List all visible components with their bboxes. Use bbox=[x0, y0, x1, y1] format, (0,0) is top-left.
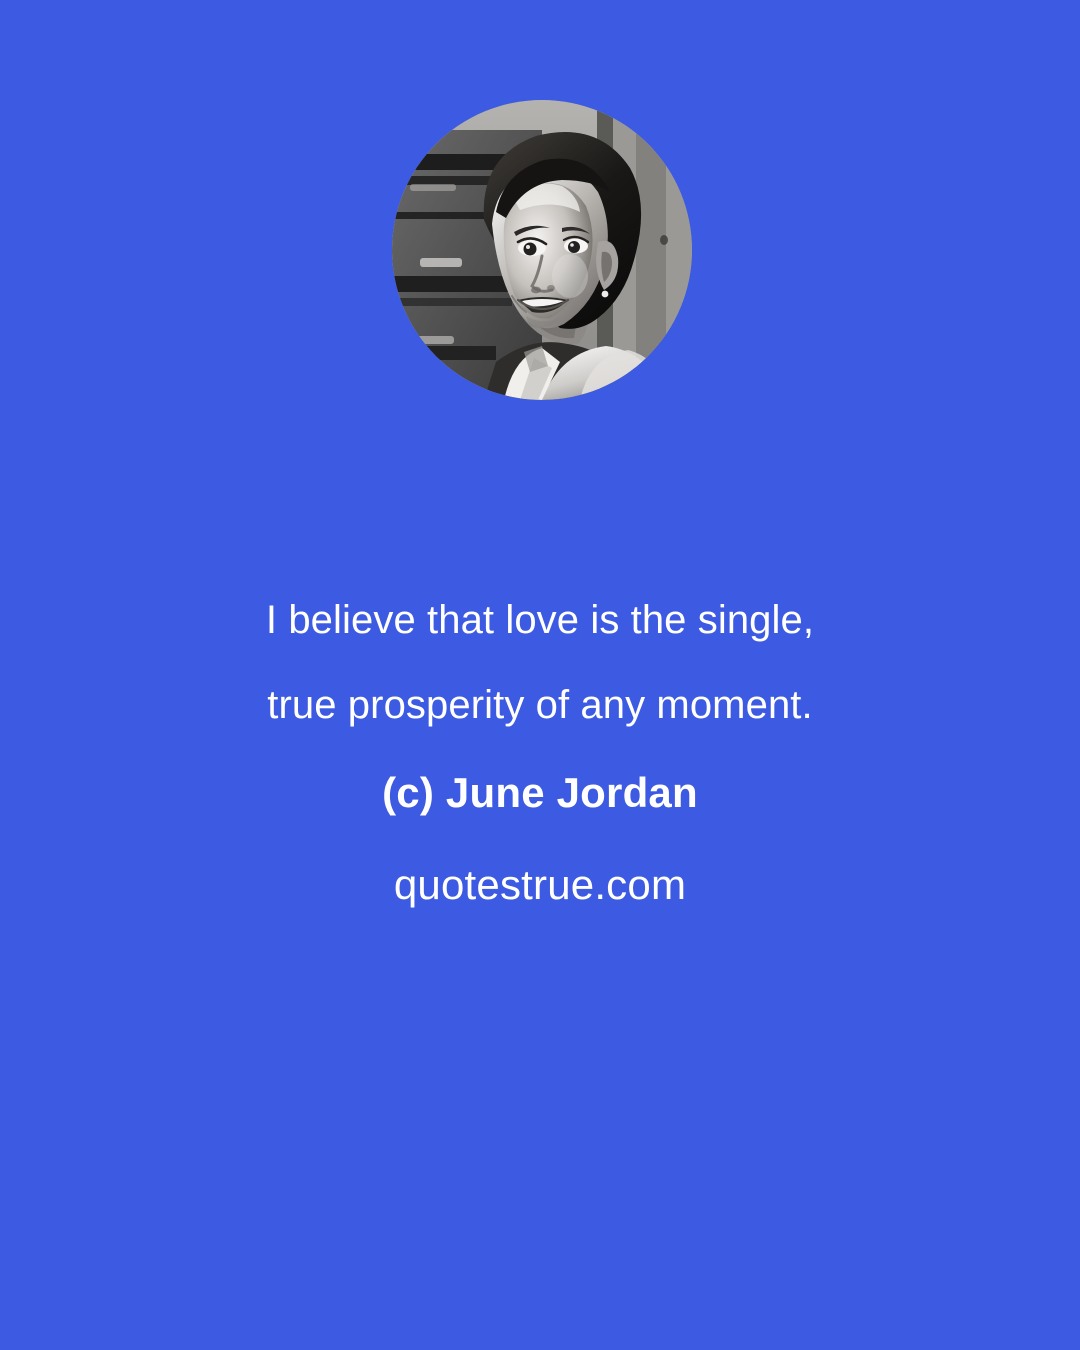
quote-line-2: true prosperity of any moment. bbox=[0, 663, 1080, 748]
source-website: quotestrue.com bbox=[0, 838, 1080, 932]
quote-attribution: (c) June Jordan bbox=[0, 748, 1080, 838]
author-portrait bbox=[392, 100, 692, 400]
quote-card: I believe that love is the single, true … bbox=[0, 0, 1080, 1350]
author-portrait-circle-icon bbox=[392, 100, 692, 400]
quote-line-1: I believe that love is the single, bbox=[0, 578, 1080, 663]
quote-text-block: I believe that love is the single, true … bbox=[0, 578, 1080, 932]
